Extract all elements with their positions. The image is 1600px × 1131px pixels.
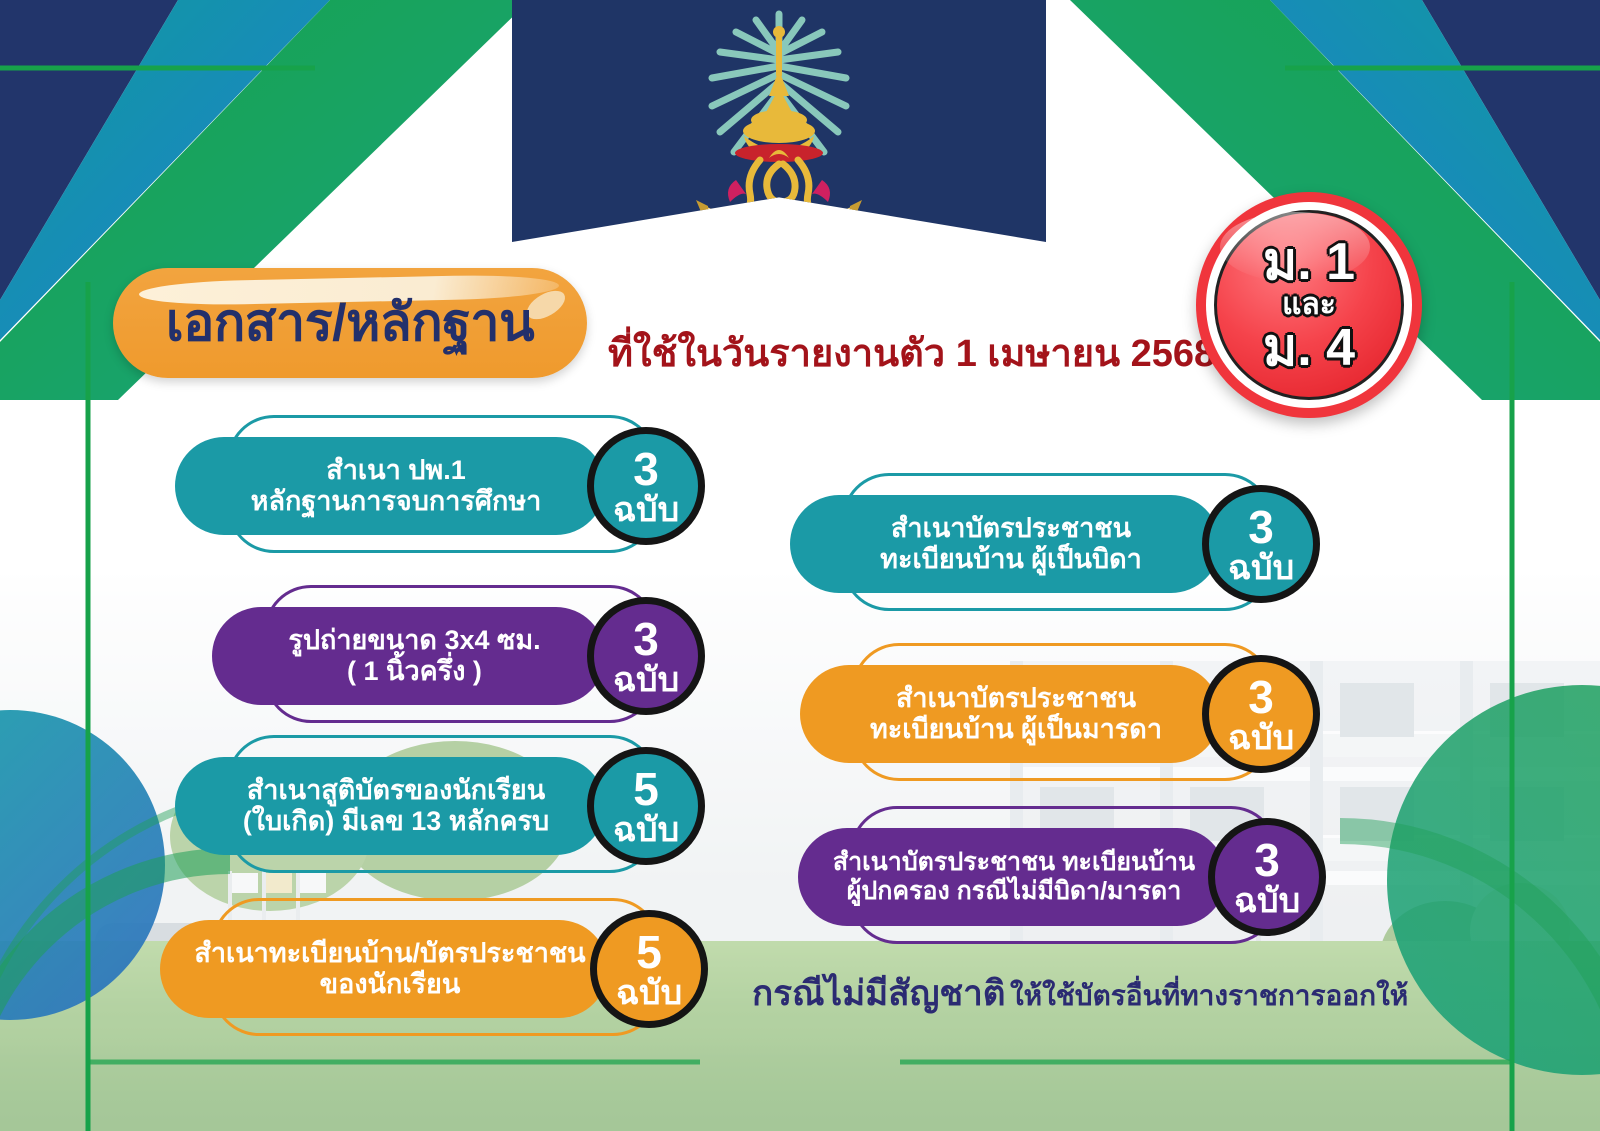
item-line-2: ( 1 นิ้วครึ่ง ) [288,656,540,687]
count-number: 3 [633,446,659,492]
item-line-1: สำเนาบัตรประชาชน [880,513,1142,544]
count-unit: ฉบับ [613,493,679,527]
count-unit: ฉบับ [1234,884,1300,918]
count-unit: ฉบับ [613,663,679,697]
count-number: 3 [1248,674,1274,720]
item-line-2: ทะเบียนบ้าน ผู้เป็นบิดา [880,544,1142,575]
item-line-2: ของนักเรียน [194,969,585,1000]
grade-level-badge: ม. 1 และ ม. 4 [1196,192,1422,418]
item-line-1: สำเนาบัตรประชาชน [870,683,1162,714]
count-badge: 3 ฉบับ [1202,655,1320,773]
count-badge: 3 ฉบับ [587,597,705,715]
count-unit: ฉบับ [613,813,679,847]
level-line-1: ม. 1 [1263,236,1355,288]
footer-note: กรณีไม่มีสัญชาติ ให้ใช้บัตรอื่นที่ทางราช… [752,966,1408,1021]
footer-note-strong: กรณีไม่มีสัญชาติ [752,974,1006,1013]
count-badge: 5 ฉบับ [590,910,708,1028]
level-conjunction: และ [1263,290,1355,320]
item-line-2: (ใบเกิด) มีเลข 13 หลักครบ [243,806,549,837]
page-title-pill: เอกสาร/หลักฐาน [113,268,587,378]
count-number: 5 [633,766,659,812]
item-line-1: สำเนาสูติบัตรของนักเรียน [243,775,549,806]
infographic-poster: เอกสาร/หลักฐาน ที่ใช้ในวันรายงานตัว 1 เม… [0,0,1600,1131]
count-number: 5 [636,929,662,975]
count-unit: ฉบับ [1228,721,1294,755]
school-emblem-icon [674,0,884,240]
count-badge: 3 ฉบับ [1208,818,1326,936]
count-number: 3 [1254,837,1280,883]
emblem-panel [512,0,1046,242]
count-unit: ฉบับ [1228,551,1294,585]
count-badge: 5 ฉบับ [587,747,705,865]
count-badge: 3 ฉบับ [587,427,705,545]
level-line-2: ม. 4 [1263,322,1355,374]
page-title: เอกสาร/หลักฐาน [166,297,534,349]
count-unit: ฉบับ [616,976,682,1010]
item-line-2: หลักฐานการจบการศึกษา [251,486,542,517]
footer-note-light: ให้ใช้บัตรอื่นที่ทางราชการออกให้ [1010,980,1408,1011]
item-line-1: สำเนา ปพ.1 [251,455,542,486]
count-badge: 3 ฉบับ [1202,485,1320,603]
item-line-1: รูปถ่ายขนาด 3x4 ซม. [288,625,540,656]
count-number: 3 [1248,504,1274,550]
item-line-1: สำเนาทะเบียนบ้าน/บัตรประชาชน [194,938,585,969]
page-subtitle: ที่ใช้ในวันรายงานตัว 1 เมษายน 2568 [608,322,1215,383]
item-line-2: ผู้ปกครอง กรณีไม่มีบิดา/มารดา [833,877,1195,906]
count-number: 3 [633,616,659,662]
item-line-1: สำเนาบัตรประชาชน ทะเบียนบ้าน [833,848,1195,877]
item-line-2: ทะเบียนบ้าน ผู้เป็นมารดา [870,714,1162,745]
